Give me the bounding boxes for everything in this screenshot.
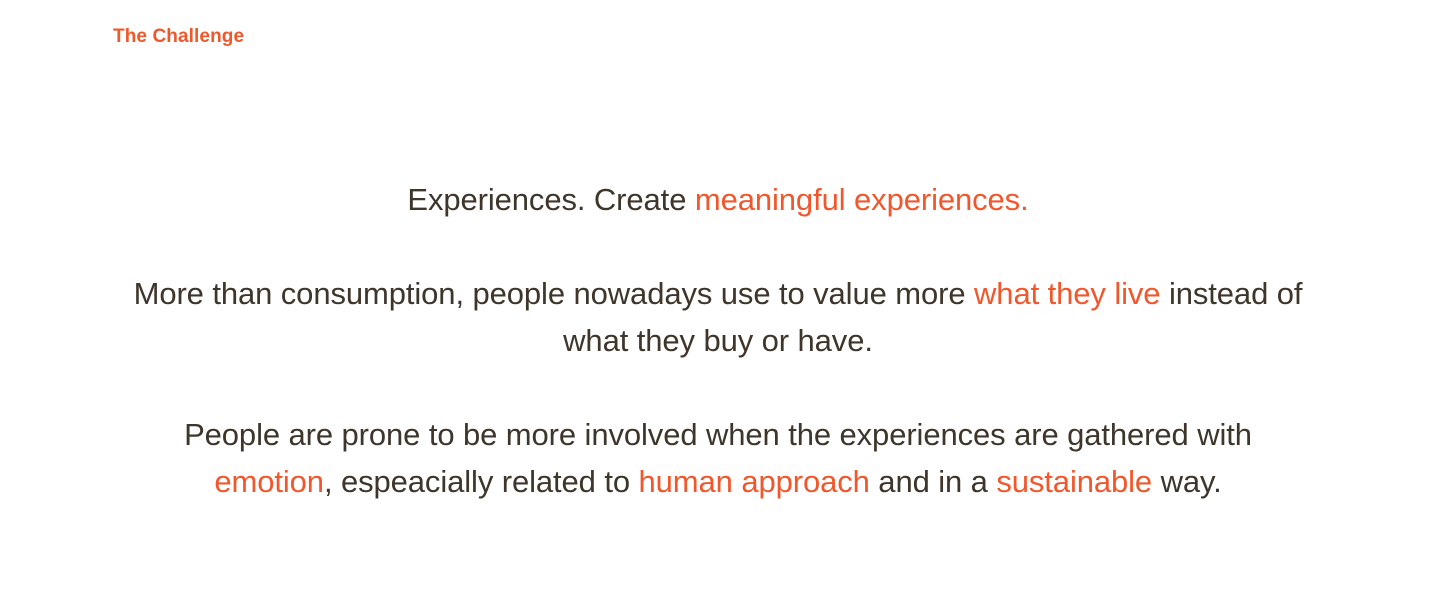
highlighted-phrase: meaningful experiences. bbox=[695, 182, 1029, 217]
text-run: More than consumption, people nowadays u… bbox=[134, 276, 974, 311]
text-run: and in a bbox=[870, 464, 997, 499]
slide-canvas: The Challenge Experiences. Create meanin… bbox=[0, 0, 1440, 601]
body-text-block: Experiences. Create meaningful experienc… bbox=[0, 176, 1436, 505]
highlighted-phrase: what they live bbox=[974, 276, 1160, 311]
text-run: Experiences. Create bbox=[407, 182, 694, 217]
text-run: People are prone to be more involved whe… bbox=[184, 417, 1252, 452]
paragraph-1: Experiences. Create meaningful experienc… bbox=[128, 176, 1308, 223]
highlighted-phrase: emotion bbox=[214, 464, 324, 499]
paragraph-2: More than consumption, people nowadays u… bbox=[128, 270, 1308, 364]
text-run: way. bbox=[1152, 464, 1222, 499]
text-run: , espeacially related to bbox=[324, 464, 639, 499]
section-label: The Challenge bbox=[113, 26, 244, 49]
paragraph-3: People are prone to be more involved whe… bbox=[128, 411, 1308, 505]
highlighted-phrase: human approach bbox=[639, 464, 870, 499]
highlighted-phrase: sustainable bbox=[996, 464, 1152, 499]
